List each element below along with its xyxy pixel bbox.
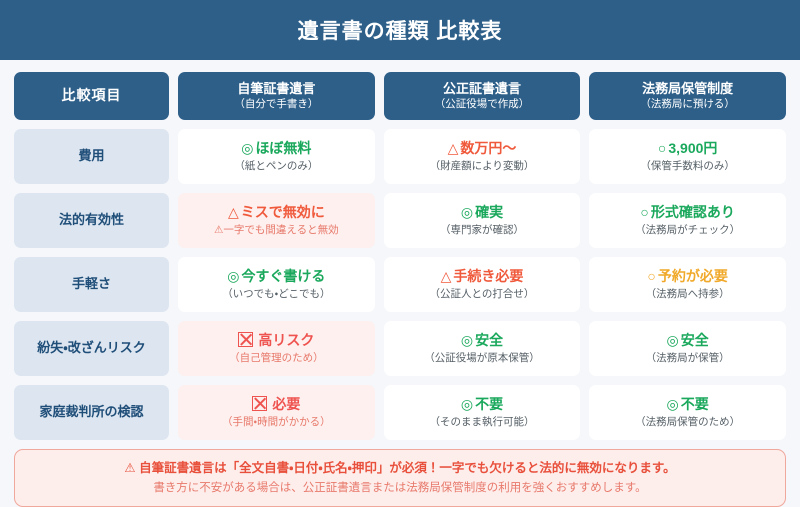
data-cell-r4-c0: 必要（手間・時間がかかる）: [178, 385, 375, 440]
boxed-x-icon: [238, 332, 256, 348]
cell-note: （法務局がチェック）: [635, 224, 740, 238]
table-row: 家庭裁判所の検認必要（手間・時間がかかる）◎不要（そのまま執行可能）◎不要（法務…: [14, 385, 786, 440]
header-subtitle: （公証役場で作成）: [435, 98, 530, 112]
data-cell-r3-c0: 高リスク（自己管理のため）: [178, 321, 375, 376]
double-circle-icon: ◎: [667, 332, 679, 348]
circle-icon: ○: [647, 268, 655, 284]
comparison-table: 比較項目自筆証書遺言（自分で手書き）公正証書遺言（公証役場で作成）法務局保管制度…: [0, 60, 800, 440]
header-title: 公正証書遺言: [443, 81, 521, 97]
header-subtitle: （自分で手書き）: [234, 98, 318, 112]
data-cell-r0-c1: △数万円〜（財産額により変動）: [384, 129, 581, 184]
cell-note: （専門家が確認）: [440, 224, 524, 238]
alert-secondary-text: 書き方に不安がある場合は、公正証書遺言または法務局保管制度の利用を強くおすすめし…: [25, 479, 775, 497]
cell-note: （そのまま執行可能）: [429, 416, 534, 430]
cell-value: ○形式確認あり: [640, 203, 734, 221]
table-row: 紛失・改ざんリスク高リスク（自己管理のため）◎安全（公証役場が原本保管）◎安全（…: [14, 321, 786, 376]
cell-note: （保管手数料のみ）: [640, 160, 735, 174]
cell-value: ◎安全: [461, 331, 503, 349]
cell-value: 必要: [252, 395, 300, 413]
circle-icon: ○: [640, 204, 648, 220]
cell-value: △数万円〜: [448, 139, 517, 157]
cell-value: ◎安全: [667, 331, 709, 349]
row-label-4: 家庭裁判所の検認: [14, 385, 169, 440]
data-cell-r0-c2: ○3,900円（保管手数料のみ）: [589, 129, 786, 184]
cell-value: ○3,900円: [658, 139, 718, 157]
cell-value: ◎ほぼ無料: [241, 139, 311, 157]
cell-value-text: 安全: [681, 332, 709, 348]
header-cell-option-2: 公正証書遺言（公証役場で作成）: [384, 72, 581, 120]
double-circle-icon: ◎: [227, 268, 239, 284]
cell-value-text: 数万円〜: [460, 140, 516, 156]
cell-note: （法務局が保管）: [646, 352, 730, 366]
header-title: 法務局保管制度: [642, 81, 733, 97]
row-label-1: 法的有効性: [14, 193, 169, 248]
table-header-row: 比較項目自筆証書遺言（自分で手書き）公正証書遺言（公証役場で作成）法務局保管制度…: [14, 72, 786, 120]
header-title: 比較項目: [62, 87, 122, 105]
cell-value-text: 必要: [272, 396, 300, 412]
triangle-icon: △: [441, 268, 452, 284]
cell-value: ○予約が必要: [647, 267, 727, 285]
header-cell-option-3: 法務局保管制度（法務局に預ける）: [589, 72, 786, 120]
cell-note: （法務局保管のため）: [635, 416, 740, 430]
cell-value: ◎確実: [461, 203, 503, 221]
data-cell-r3-c1: ◎安全（公証役場が原本保管）: [384, 321, 581, 376]
cell-value-text: ミスで無効に: [241, 204, 325, 220]
cell-value-text: 今すぐ書ける: [241, 268, 325, 284]
data-cell-r4-c2: ◎不要（法務局保管のため）: [589, 385, 786, 440]
double-circle-icon: ◎: [461, 332, 473, 348]
data-cell-r1-c1: ◎確実（専門家が確認）: [384, 193, 581, 248]
cell-value: ◎不要: [667, 395, 709, 413]
double-circle-icon: ◎: [461, 396, 473, 412]
data-cell-r4-c1: ◎不要（そのまま執行可能）: [384, 385, 581, 440]
alert-primary-text: ⚠ 自筆証書遺言は「全文自書・日付・氏名・押印」が必須！一字でも欠けると法的に無…: [25, 459, 775, 478]
cell-note: （いつでも・どこでも）: [222, 288, 330, 302]
cell-value: ◎今すぐ書ける: [227, 267, 325, 285]
cell-note: （手間・時間がかかる）: [222, 416, 331, 430]
data-cell-r2-c0: ◎今すぐ書ける（いつでも・どこでも）: [178, 257, 375, 312]
data-cell-r1-c2: ○形式確認あり（法務局がチェック）: [589, 193, 786, 248]
cell-note: ⚠一字でも間違えると無効: [214, 224, 339, 238]
cell-value: ◎不要: [461, 395, 503, 413]
cell-value-text: 高リスク: [258, 332, 314, 348]
cell-value: △手続き必要: [441, 267, 524, 285]
cell-value-text: ほぼ無料: [255, 140, 311, 156]
warning-alert-box: ⚠ 自筆証書遺言は「全文自書・日付・氏名・押印」が必須！一字でも欠けると法的に無…: [14, 449, 786, 507]
header-subtitle: （法務局に預ける）: [640, 98, 735, 112]
row-label-2: 手軽さ: [14, 257, 169, 312]
data-cell-r0-c0: ◎ほぼ無料（紙とペンのみ）: [178, 129, 375, 184]
page-title: 遺言書の種類 比較表: [298, 15, 503, 45]
cell-value-text: 3,900円: [668, 140, 717, 156]
table-row: 費用◎ほぼ無料（紙とペンのみ）△数万円〜（財産額により変動）○3,900円（保管…: [14, 129, 786, 184]
table-body: 費用◎ほぼ無料（紙とペンのみ）△数万円〜（財産額により変動）○3,900円（保管…: [14, 129, 786, 440]
table-row: 手軽さ◎今すぐ書ける（いつでも・どこでも）△手続き必要（公証人との打合せ）○予約…: [14, 257, 786, 312]
cell-note: （自己管理のため）: [229, 352, 324, 366]
header-title: 自筆証書遺言: [237, 81, 315, 97]
header-cell-option-1: 自筆証書遺言（自分で手書き）: [178, 72, 375, 120]
cell-value: 高リスク: [238, 331, 314, 349]
cell-value-text: 不要: [475, 396, 503, 412]
data-cell-r1-c0: △ミスで無効に⚠一字でも間違えると無効: [178, 193, 375, 248]
title-banner: 遺言書の種類 比較表: [0, 0, 800, 60]
cell-value-text: 形式確認あり: [651, 204, 735, 220]
cell-value-text: 安全: [475, 332, 503, 348]
cell-note: （公証人との打合せ）: [430, 288, 535, 302]
data-cell-r2-c2: ○予約が必要（法務局へ持参）: [589, 257, 786, 312]
cell-note: （紙とペンのみ）: [234, 160, 318, 174]
data-cell-r2-c1: △手続き必要（公証人との打合せ）: [384, 257, 581, 312]
row-label-0: 費用: [14, 129, 169, 184]
triangle-icon: △: [448, 140, 459, 156]
cell-note: （財産額により変動）: [430, 160, 535, 174]
double-circle-icon: ◎: [241, 140, 253, 156]
cell-value-text: 確実: [475, 204, 503, 220]
header-cell-criteria: 比較項目: [14, 72, 169, 120]
cell-value: △ミスで無効に: [228, 203, 325, 221]
circle-icon: ○: [658, 140, 666, 156]
double-circle-icon: ◎: [667, 396, 679, 412]
cell-note: （法務局へ持参）: [646, 288, 730, 302]
cell-note: （公証役場が原本保管）: [424, 352, 540, 366]
cell-value-text: 予約が必要: [658, 268, 728, 284]
boxed-x-icon: [252, 396, 270, 412]
table-row: 法的有効性△ミスで無効に⚠一字でも間違えると無効◎確実（専門家が確認）○形式確認…: [14, 193, 786, 248]
cell-value-text: 不要: [681, 396, 709, 412]
data-cell-r3-c2: ◎安全（法務局が保管）: [589, 321, 786, 376]
cell-value-text: 手続き必要: [453, 268, 523, 284]
double-circle-icon: ◎: [461, 204, 473, 220]
row-label-3: 紛失・改ざんリスク: [14, 321, 169, 376]
triangle-icon: △: [228, 204, 239, 220]
